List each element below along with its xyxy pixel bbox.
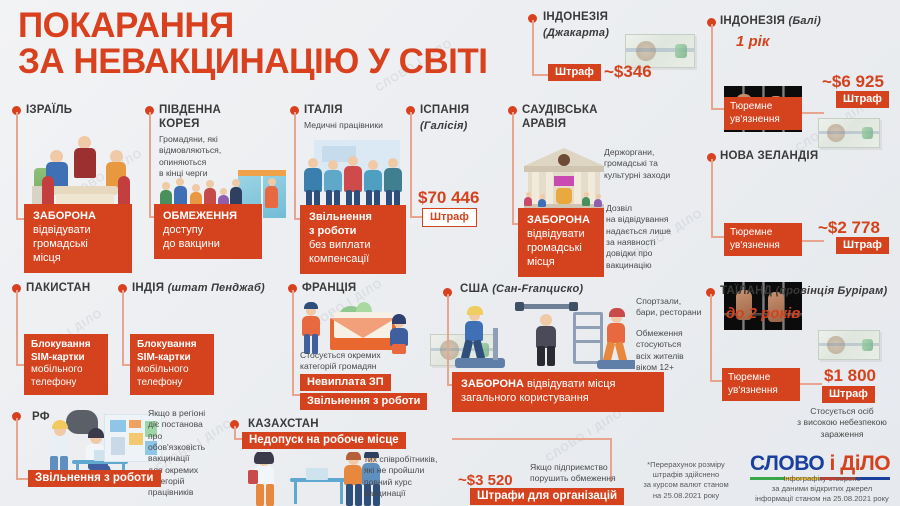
label-usa: США (Сан-Franциско) — [460, 283, 583, 295]
tag-fine-jakarta: Штраф — [548, 64, 601, 81]
term-bali: 1 рік — [736, 33, 769, 50]
label-pakistan: ПАКИСТАН — [26, 282, 90, 294]
connector-spain-h — [410, 216, 422, 218]
label-france: ФРАНЦІЯ — [302, 282, 356, 294]
tag-fine-thailand: Штраф — [822, 386, 875, 403]
tag-kazakhstan-fines: Штрафи для організацій — [470, 488, 624, 505]
france-envelope-image — [300, 300, 412, 356]
connector-sk — [149, 112, 151, 218]
connector-nz — [711, 159, 713, 238]
amount-jakarta: ~$346 — [604, 62, 652, 82]
panel-india: Блокування SIM-картки мобільного телефон… — [130, 334, 214, 395]
note-saudi-top: Держоргани, громадські та культурні захо… — [604, 147, 696, 181]
logo-text: СЛОВО і ДіЛО — [750, 452, 890, 476]
label-italy: ІТАЛІЯ — [304, 104, 343, 116]
panel-bali: Тюремне ув'язнення — [724, 97, 802, 130]
panel-thailand: Тюремне ув'язнення — [722, 368, 800, 401]
label-south-korea: ПІВДЕННА КОРЕЯ — [159, 103, 269, 132]
connector-usa — [447, 294, 449, 386]
label-israel: ІЗРАЇЛЬ — [26, 104, 72, 116]
connector-israel — [16, 112, 18, 220]
connector-nz-h — [711, 236, 725, 238]
panel-south-korea: ОБМЕЖЕННЯ доступу до вакцини — [154, 204, 262, 259]
israel-cafe-image — [30, 130, 140, 212]
connector-bali-fine — [802, 112, 824, 114]
connector-kazakhstan-fine — [452, 438, 612, 440]
saudi-theatre-image — [518, 140, 610, 212]
tag-france-dismissal: Звільнення з роботи — [300, 393, 427, 410]
label-india: ІНДІЯ (штат Пенджаб) — [132, 282, 265, 294]
amount-kazakhstan: ~$3 520 — [458, 472, 513, 489]
italy-medics-image — [300, 140, 410, 212]
note-thailand: Стосується осіб з високою небезпекою зар… — [790, 406, 894, 440]
note-saudi-bottom: Дозвіл на відвідування надається лише за… — [606, 203, 700, 271]
watermark: СЛОВО І ДІЛО — [544, 407, 625, 464]
note-france: Стосується окремих категорій громадян — [300, 350, 430, 373]
connector-russia — [16, 418, 18, 480]
note-usa-top: Спортзали, бари, ресторани — [636, 296, 734, 319]
amount-thailand: $1 800 — [824, 366, 876, 386]
tag-russia-dismissal: Звільнення з роботи — [28, 470, 161, 487]
label-thailand: ТАЇЛАНД (провінція Бурірам) — [720, 285, 887, 297]
panel-saudi: ЗАБОРОНА відвідувати громадські місця — [518, 208, 604, 277]
amount-bali: ~$6 925 — [822, 72, 884, 92]
sublabel-indonesia-jakarta: (Джакарта) — [543, 27, 609, 39]
label-indonesia-jakarta: ІНДОНЕЗІЯ — [543, 11, 608, 23]
panel-italy: Звільнення з роботи без виплати компенса… — [300, 205, 406, 274]
footer-credit: Інфографіку створено за даними відкритих… — [748, 474, 896, 505]
tag-kazakhstan-noentry: Недопуск на робоче місце — [242, 432, 406, 449]
banknote-icon-bali — [818, 118, 880, 148]
term-thailand: до 2 років — [726, 305, 800, 322]
banknote-icon-nz — [818, 330, 880, 360]
usa-gym-image — [455, 302, 635, 374]
sublabel-spain: (Галісія) — [420, 120, 468, 132]
connector-india — [122, 290, 124, 366]
panel-usa: ЗАБОРОНА відвідувати місця загального ко… — [452, 372, 664, 412]
amount-nz: ~$2 778 — [818, 218, 880, 238]
connector-indonesia-jakarta — [532, 20, 534, 76]
connector-saudi — [512, 112, 514, 225]
title-line-2: ЗА НЕВАКЦИНАЦІЮ У СВІТІ — [18, 44, 538, 80]
tag-france-nopay: Невиплата ЗП — [300, 374, 391, 391]
note-usa-bottom: Обмеження стосуються всіх жителів віком … — [636, 328, 734, 373]
label-indonesia-bali: ІНДОНЕЗІЯ (Балі) — [720, 15, 821, 27]
label-new-zealand: НОВА ЗЕЛАНДІЯ — [720, 150, 818, 162]
connector-thailand-h — [710, 380, 722, 382]
note-italy: Медичні працівники — [304, 120, 414, 131]
connector-bali-h — [711, 108, 725, 110]
title-line-1: ПОКАРАННЯ — [18, 6, 234, 45]
tag-fine-bali: Штраф — [836, 91, 889, 108]
kazakhstan-office-image — [244, 452, 384, 506]
amount-spain: $70 446 — [418, 188, 479, 208]
connector-russia-h — [16, 478, 28, 480]
panel-pakistan: Блокування SIM-картки мобільного телефон… — [24, 334, 108, 395]
page-title: ПОКАРАННЯ ЗА НЕВАКЦИНАЦІЮ У СВІТІ — [18, 8, 538, 80]
connector-thailand-fine — [800, 383, 822, 385]
tag-fine-spain: Штраф — [422, 208, 477, 227]
tag-fine-nz: Штраф — [836, 237, 889, 254]
connector-italy — [294, 112, 296, 220]
connector-nz-fine — [802, 240, 824, 242]
infographic-canvas: СЛОВО І ДІЛО СЛОВО І ДІЛО СЛОВО І ДІЛО С… — [0, 0, 900, 506]
panel-israel: ЗАБОРОНА відвідувати громадські місця — [24, 204, 132, 273]
panel-nz: Тюремне ув'язнення — [724, 223, 802, 256]
footer-disclaimer: *Перерахунок розміру штрафів здійснено з… — [630, 460, 742, 501]
connector-france — [292, 290, 294, 396]
connector-spain — [410, 112, 412, 218]
note-kazakhstan: тих співробітників, які не пройшли повни… — [364, 454, 464, 499]
label-spain: ІСПАНІЯ — [420, 104, 469, 116]
connector-bali — [711, 24, 713, 110]
connector-pakistan — [16, 290, 18, 366]
note-kazakhstan-2: Якщо підприємство порушить обмеження — [530, 462, 640, 485]
connector-thailand — [710, 294, 712, 382]
label-kazakhstan: КАЗАХСТАН — [248, 418, 319, 430]
label-saudi: САУДІВСЬКА АРАВІЯ — [522, 103, 622, 132]
